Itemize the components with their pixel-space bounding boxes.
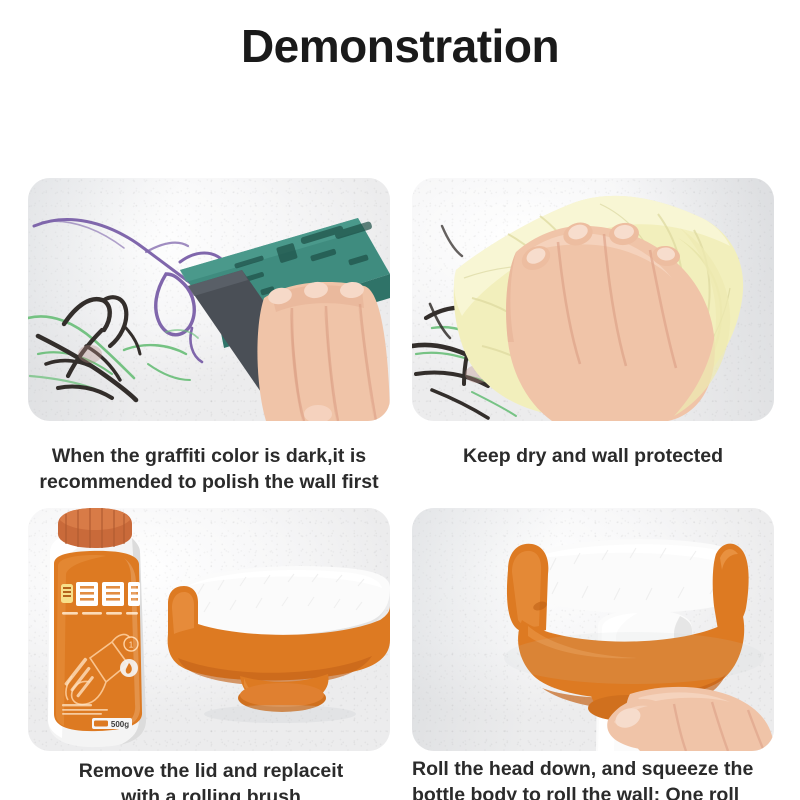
caption-roll-the-wall: Roll the head down, and squeeze the bott… — [412, 756, 784, 800]
photo-polish-wall — [28, 178, 390, 421]
photo-roll-the-wall — [412, 508, 774, 751]
roller-brush-head — [168, 566, 390, 723]
caption-line: When the graffiti color is dark,it is — [20, 443, 398, 469]
scene-bottle-roller: 1 500g — [28, 508, 390, 751]
scene-wiping — [412, 178, 774, 421]
caption-line: Remove the lid and replaceit — [20, 758, 402, 784]
paint-bottle: 1 500g — [48, 508, 146, 747]
caption-polish-wall: When the graffiti color is dark,it is re… — [20, 443, 398, 495]
photo-replace-lid: 1 500g — [28, 508, 390, 751]
svg-text:500g: 500g — [111, 720, 129, 729]
caption-line: Keep dry and wall protected — [412, 443, 774, 469]
caption-replace-lid: Remove the lid and replaceit with a roll… — [20, 758, 402, 800]
scene-rolling — [412, 508, 774, 751]
caption-line: with a rolling brush — [20, 784, 402, 800]
caption-line: bottle body to roll the wall; One roll — [412, 782, 784, 800]
page-title: Demonstration — [0, 0, 800, 78]
caption-keep-dry: Keep dry and wall protected — [412, 443, 774, 469]
scene-sanding — [28, 178, 390, 421]
caption-line: Roll the head down, and squeeze the — [412, 756, 784, 782]
demonstration-page: Demonstration — [0, 0, 800, 800]
caption-line: recommended to polish the wall first — [20, 469, 398, 495]
photo-keep-dry — [412, 178, 774, 421]
svg-text:1: 1 — [129, 641, 134, 650]
